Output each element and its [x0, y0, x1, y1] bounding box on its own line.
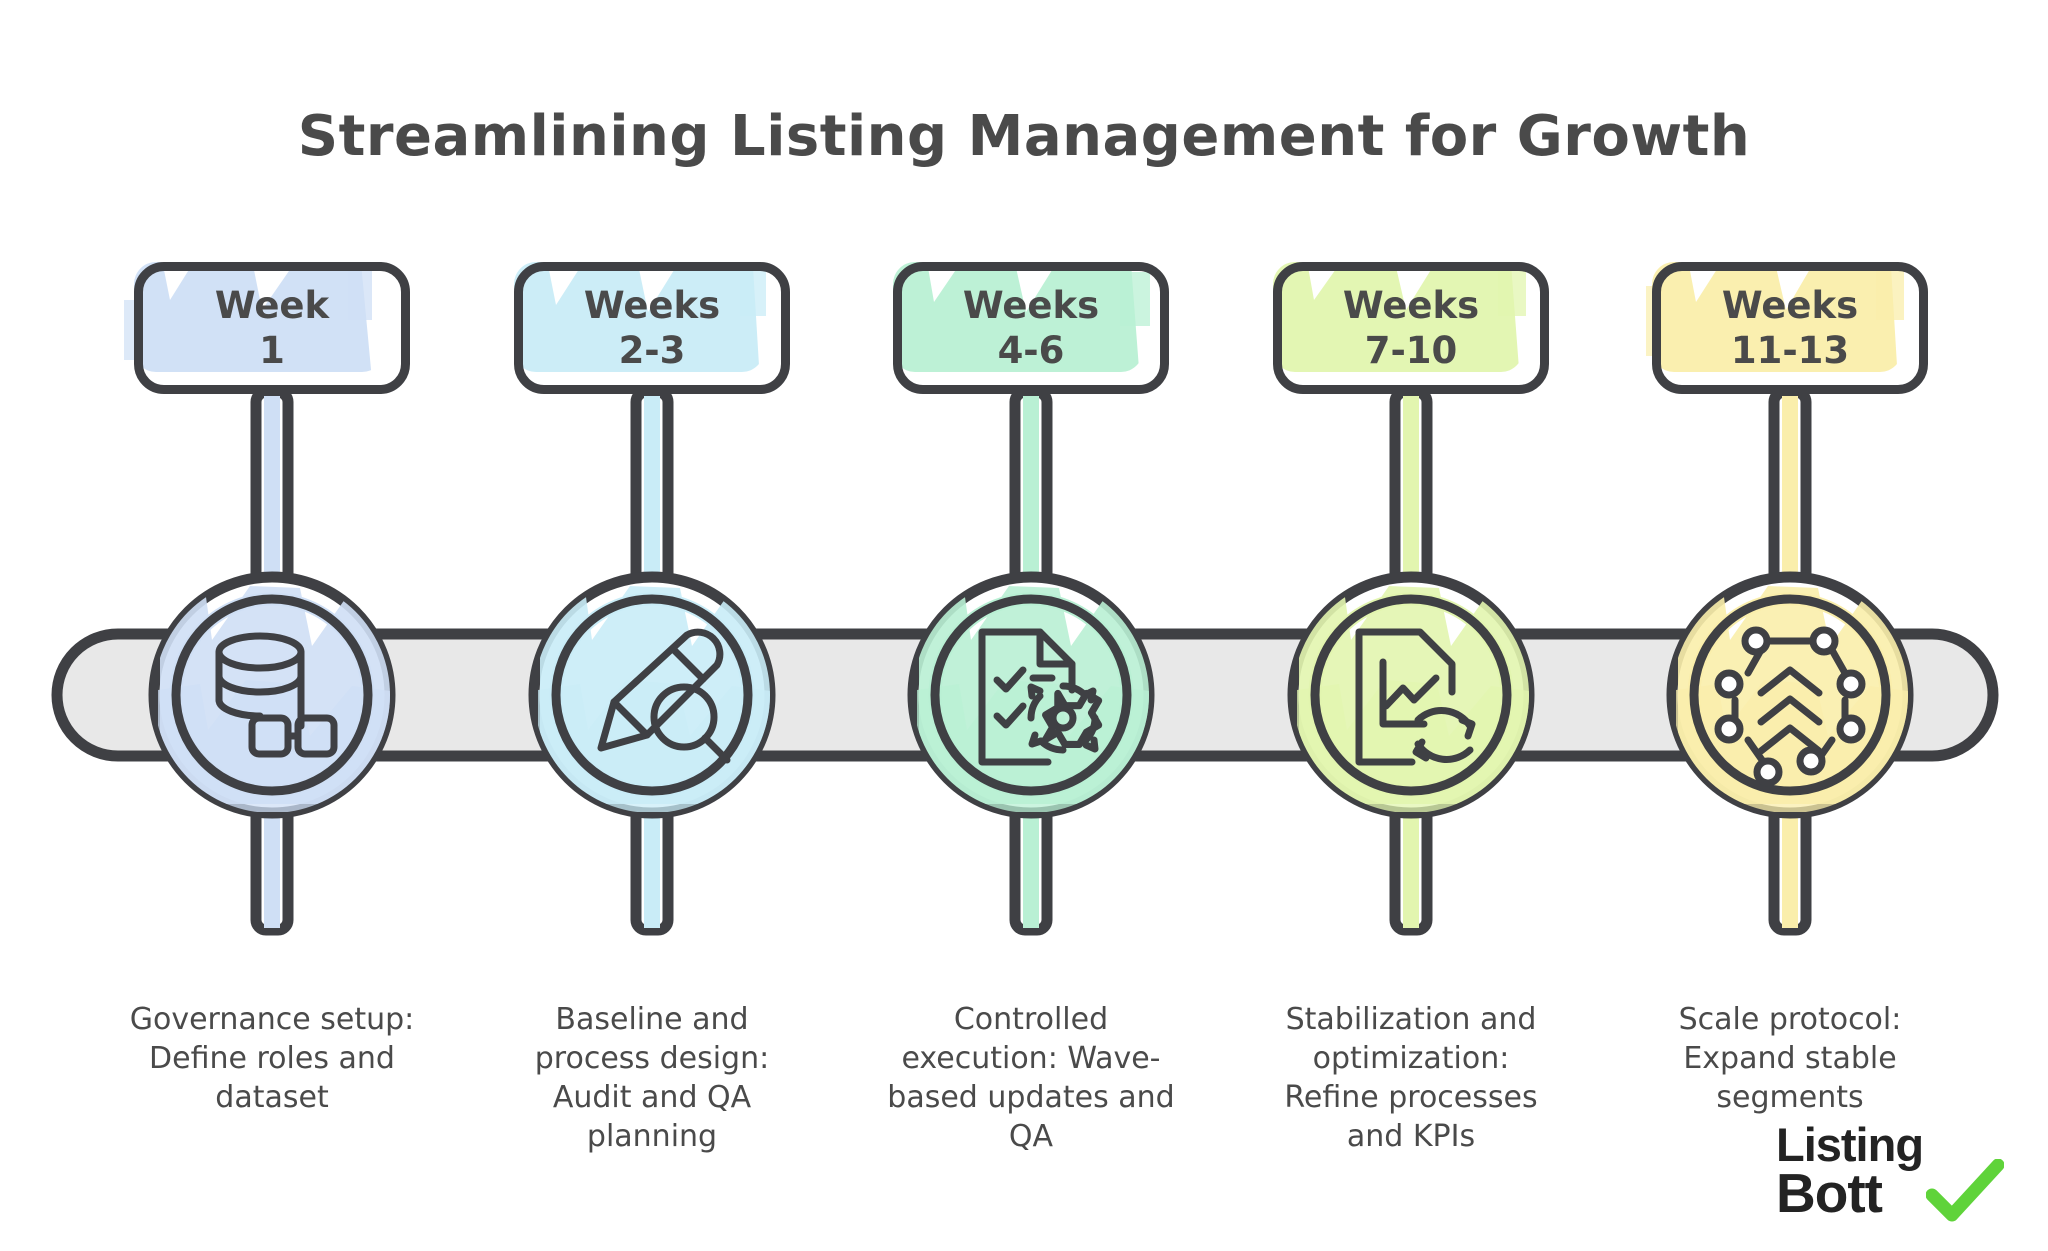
badge-line-2: 2-3: [619, 328, 686, 373]
badge-week-2[interactable]: Weeks 2-3: [514, 262, 790, 394]
caption-step-2: Baseline and process design: Audit and Q…: [502, 1000, 802, 1156]
check-icon: [1926, 1159, 2004, 1223]
timeline-node-5[interactable]: [1672, 577, 1922, 813]
infographic-canvas: Streamlining Listing Management for Grow…: [0, 0, 2048, 1251]
caption-step-3: Controlled execution: Wave-based updates…: [881, 1000, 1181, 1156]
timeline-node-2[interactable]: [534, 577, 784, 813]
badge-line-1: Weeks: [1722, 283, 1858, 328]
badge-line-1: Weeks: [963, 283, 1099, 328]
badge-line-2: 1: [259, 328, 285, 373]
badge-line-1: Weeks: [1343, 283, 1479, 328]
timeline-node-3[interactable]: [913, 577, 1163, 813]
brand-logo[interactable]: Listing Bott: [1768, 1117, 2008, 1229]
caption-step-5: Scale protocol: Expand stable segments: [1640, 1000, 1940, 1117]
badge-week-3[interactable]: Weeks 4-6: [893, 262, 1169, 394]
badge-line-2: 4-6: [998, 328, 1065, 373]
caption-step-4: Stabilization and optimization: Refine p…: [1261, 1000, 1561, 1156]
logo-line-2: Bott: [1776, 1161, 1882, 1225]
timeline-node-1[interactable]: [154, 577, 404, 813]
timeline-node-4[interactable]: [1293, 577, 1543, 813]
caption-step-1: Governance setup: Define roles and datas…: [122, 1000, 422, 1117]
badge-week-1[interactable]: Week 1: [134, 262, 410, 394]
badge-week-5[interactable]: Weeks 11-13: [1652, 262, 1928, 394]
badge-line-2: 7-10: [1365, 328, 1458, 373]
badge-line-1: Weeks: [584, 283, 720, 328]
badge-line-2: 11-13: [1731, 328, 1849, 373]
badge-line-1: Week: [215, 283, 329, 328]
badge-week-4[interactable]: Weeks 7-10: [1273, 262, 1549, 394]
